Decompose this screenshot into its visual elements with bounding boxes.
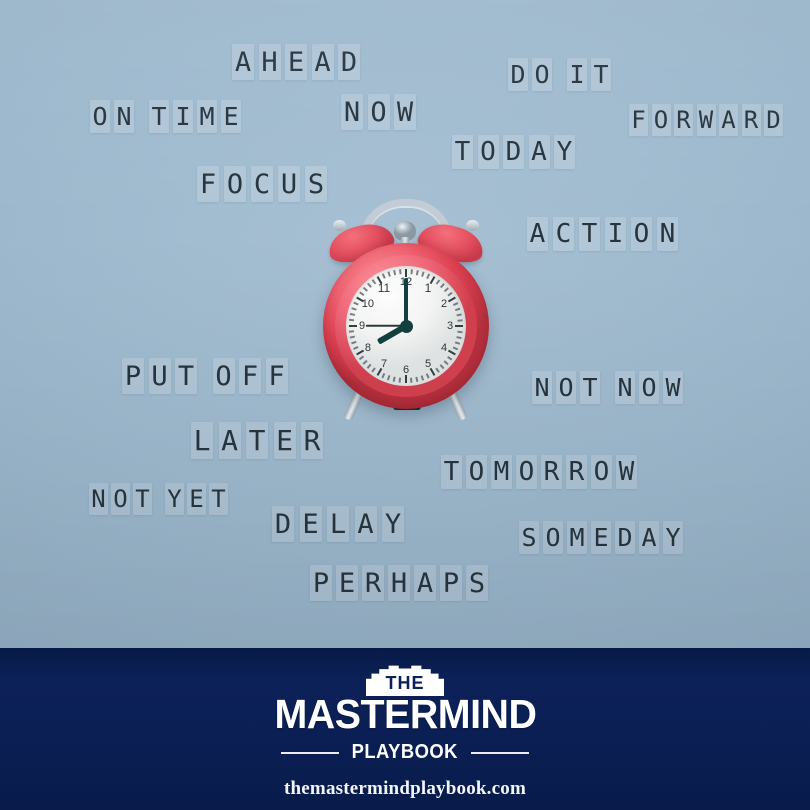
word-tile-focus: FOCUS: [197, 166, 332, 202]
clock-tick: [455, 341, 460, 344]
clock-bell-cap-left: [333, 220, 346, 231]
letter-tile: H: [388, 565, 410, 601]
clock-minute-hand: [404, 278, 408, 326]
clock-tick: [372, 368, 376, 373]
clock-tick: [457, 313, 462, 316]
clock-tick: [411, 269, 413, 274]
letter-tile: O: [543, 521, 563, 554]
clock-tick: [421, 272, 424, 277]
clock-tick: [458, 319, 463, 321]
word-tile-delay: DELAY: [272, 506, 410, 542]
letter-tile: T: [149, 100, 169, 133]
letter-tile: Y: [663, 521, 683, 554]
letter-tile: [138, 100, 149, 133]
letter-tile: R: [566, 455, 587, 489]
letter-tile: F: [239, 358, 261, 394]
letter-tile: O: [591, 455, 612, 489]
letter-tile: A: [219, 422, 241, 459]
letter-tile: O: [466, 455, 487, 489]
clock-tick: [350, 336, 355, 339]
clock-tick: [363, 360, 368, 364]
letter-tile: U: [278, 166, 300, 202]
letter-tile: [155, 483, 165, 515]
clock-tick: [356, 350, 364, 356]
word-tile-on-time: ONTIME: [90, 100, 245, 133]
word-tile-do-it: DOIT: [508, 58, 615, 91]
clock-tick: [453, 346, 458, 349]
rule-right: [471, 752, 529, 754]
clock-numeral-6: 6: [403, 364, 409, 376]
letter-tile: D: [764, 104, 783, 136]
clock-tick: [388, 375, 391, 380]
letter-tile: A: [312, 44, 334, 80]
clock-tick: [349, 331, 354, 333]
letter-tile: N: [532, 371, 552, 404]
letter-tile: W: [663, 371, 683, 404]
letter-tile: T: [246, 422, 268, 459]
letter-tile: Y: [165, 483, 184, 515]
clock-tick: [448, 356, 453, 360]
letter-tile: E: [187, 483, 206, 515]
clock-numeral-3: 3: [447, 320, 453, 332]
letter-tile: F: [629, 104, 648, 136]
letter-tile: O: [213, 358, 235, 394]
letter-tile: H: [259, 44, 281, 80]
clock-face: 121234567891011: [346, 266, 466, 386]
brand-subtitle: PLAYBOOK: [352, 741, 458, 764]
letter-tile: Y: [554, 135, 575, 169]
letter-tile: T: [133, 483, 152, 515]
letter-tile: I: [605, 217, 626, 251]
clock-tick: [426, 373, 429, 378]
clock-tick: [350, 313, 355, 316]
letter-tile: T: [441, 455, 462, 489]
brand-name: MASTERMIND: [274, 694, 536, 735]
letter-tile: M: [491, 455, 512, 489]
clock-tick: [440, 283, 444, 288]
word-tile-not-now: NOTNOW: [532, 371, 687, 404]
letter-tile: T: [580, 371, 600, 404]
clock-case: 121234567891011: [323, 243, 489, 409]
footer-logo-bar: THE MASTERMIND PLAYBOOK themastermindpla…: [0, 648, 810, 810]
badge-label: THE: [386, 673, 425, 694]
clock-tick: [453, 302, 458, 305]
word-tile-perhaps: PERHAPS: [310, 565, 492, 601]
letter-tile: O: [368, 94, 390, 130]
letter-tile: U: [149, 358, 171, 394]
letter-tile: N: [615, 371, 635, 404]
letter-tile: N: [114, 100, 134, 133]
word-tile-later: LATER: [191, 422, 329, 459]
letter-tile: L: [191, 422, 213, 459]
letter-tile: O: [478, 135, 499, 169]
letter-tile: O: [639, 371, 659, 404]
clock-tick: [455, 308, 460, 311]
letter-tile: R: [362, 565, 384, 601]
clock-tick: [457, 336, 462, 339]
poster-image: AHEADDOITONTIMENOWFORWARDTODAYFOCUSACTIO…: [0, 0, 810, 810]
letter-tile: M: [567, 521, 587, 554]
clock-tick: [393, 270, 396, 275]
clock-numeral-10: 10: [362, 298, 374, 310]
letter-tile: O: [516, 455, 537, 489]
letter-tile: C: [553, 217, 574, 251]
letter-tile: W: [616, 455, 637, 489]
letter-tile: O: [224, 166, 246, 202]
letter-tile: T: [452, 135, 473, 169]
clock-tick: [436, 279, 440, 284]
letter-tile: P: [310, 565, 332, 601]
word-tile-today: TODAY: [452, 135, 580, 169]
clock-tick: [416, 270, 419, 275]
letter-tile: D: [272, 506, 294, 542]
letter-tile: D: [338, 44, 360, 80]
clock-tick: [349, 319, 354, 321]
clock-tick: [411, 378, 413, 383]
clock-numeral-5: 5: [425, 358, 431, 370]
website-url: themastermindplaybook.com: [284, 778, 526, 800]
word-tile-ahead: AHEAD: [232, 44, 365, 80]
letter-tile: P: [122, 358, 144, 394]
letter-tile: I: [567, 58, 587, 91]
clock-tick: [354, 346, 359, 349]
clock-numeral-4: 4: [441, 342, 447, 354]
word-tile-forward: FORWARD: [629, 104, 787, 136]
clock-tick: [448, 297, 456, 303]
clock-center-pin: [400, 320, 413, 333]
clock-tick: [359, 292, 364, 296]
letter-tile: N: [657, 217, 678, 251]
clock-numeral-9: 9: [359, 320, 365, 332]
clock-tick: [352, 308, 357, 311]
letter-tile: W: [697, 104, 716, 136]
letter-tile: R: [541, 455, 562, 489]
letter-tile: O: [631, 217, 652, 251]
clock-tick: [399, 269, 401, 274]
letter-tile: [556, 58, 567, 91]
letter-tile: R: [742, 104, 761, 136]
letter-tile: E: [274, 422, 296, 459]
clock-tick: [458, 331, 463, 333]
clock-tick: [444, 360, 449, 364]
letter-tile: S: [305, 166, 327, 202]
word-tile-put-off: PUTOFF: [122, 358, 292, 394]
letter-tile: P: [440, 565, 462, 601]
letter-tile: I: [173, 100, 193, 133]
clock-tick: [372, 279, 376, 284]
clock-tick: [382, 274, 385, 279]
clock-tick: [448, 350, 456, 356]
letter-tile: A: [529, 135, 550, 169]
letter-tile: S: [519, 521, 539, 554]
letter-tile: [202, 358, 213, 394]
clock-tick: [382, 373, 385, 378]
letter-tile: W: [394, 94, 416, 130]
letter-tile: D: [615, 521, 635, 554]
clock-tick: [354, 302, 359, 305]
letter-tile: D: [508, 58, 528, 91]
letter-tile: E: [300, 506, 322, 542]
letter-tile: L: [327, 506, 349, 542]
clock-numeral-2: 2: [441, 298, 447, 310]
clock-tick: [405, 375, 407, 383]
letter-tile: T: [591, 58, 611, 91]
word-tile-tomorrow: TOMORROW: [441, 455, 641, 489]
letter-tile: M: [197, 100, 217, 133]
letter-tile: N: [341, 94, 363, 130]
letter-tile: Y: [382, 506, 404, 542]
clock-tick: [349, 325, 357, 327]
photo-background: AHEADDOITONTIMENOWFORWARDTODAYFOCUSACTIO…: [0, 0, 810, 648]
letter-tile: E: [336, 565, 358, 601]
clock-tick: [455, 325, 463, 327]
letter-tile: O: [111, 483, 130, 515]
letter-tile: O: [532, 58, 552, 91]
letter-tile: F: [266, 358, 288, 394]
clock-tick: [426, 274, 429, 279]
subtitle-row: PLAYBOOK: [281, 741, 529, 764]
letter-tile: T: [175, 358, 197, 394]
letter-tile: T: [209, 483, 228, 515]
letter-tile: A: [232, 44, 254, 80]
clock-numeral-8: 8: [365, 342, 371, 354]
letter-tile: C: [251, 166, 273, 202]
letter-tile: R: [674, 104, 693, 136]
clock-bell-cap-right: [466, 220, 479, 231]
letter-tile: E: [285, 44, 307, 80]
clock-numeral-7: 7: [381, 358, 387, 370]
clock-tick: [352, 341, 357, 344]
letter-tile: [604, 371, 615, 404]
clock-tick: [436, 368, 440, 373]
letter-tile: D: [503, 135, 524, 169]
clock-tick: [421, 375, 424, 380]
word-tile-not-yet: NOTYET: [89, 483, 231, 515]
letter-tile: A: [719, 104, 738, 136]
clock-case-inner: 121234567891011: [335, 255, 477, 397]
clock-tick: [367, 364, 371, 369]
clock-tick: [440, 364, 444, 369]
letter-tile: A: [527, 217, 548, 251]
alarm-clock: 121234567891011: [311, 199, 501, 431]
clock-tick: [388, 272, 391, 277]
rule-left: [281, 752, 339, 754]
clock-tick: [367, 283, 371, 288]
letter-tile: O: [652, 104, 671, 136]
clock-tick: [393, 377, 396, 382]
clock-tick: [363, 287, 368, 291]
clock-numeral-1: 1: [425, 281, 432, 295]
clock-tick: [444, 287, 449, 291]
letter-tile: A: [414, 565, 436, 601]
letter-tile: O: [90, 100, 110, 133]
word-tile-someday: SOMEDAY: [519, 521, 687, 554]
clock-tick: [448, 292, 453, 296]
letter-tile: S: [466, 565, 488, 601]
clock-tick: [416, 377, 419, 382]
word-tile-action: ACTION: [527, 217, 683, 251]
letter-tile: A: [639, 521, 659, 554]
letter-tile: E: [591, 521, 611, 554]
letter-tile: E: [221, 100, 241, 133]
letter-tile: O: [556, 371, 576, 404]
clock-tick: [359, 356, 364, 360]
letter-tile: N: [89, 483, 108, 515]
clock-tick: [399, 378, 401, 383]
clock-numeral-11: 11: [378, 281, 390, 295]
letter-tile: F: [197, 166, 219, 202]
word-tile-now: NOW: [341, 94, 421, 130]
letter-tile: A: [355, 506, 377, 542]
letter-tile: T: [579, 217, 600, 251]
